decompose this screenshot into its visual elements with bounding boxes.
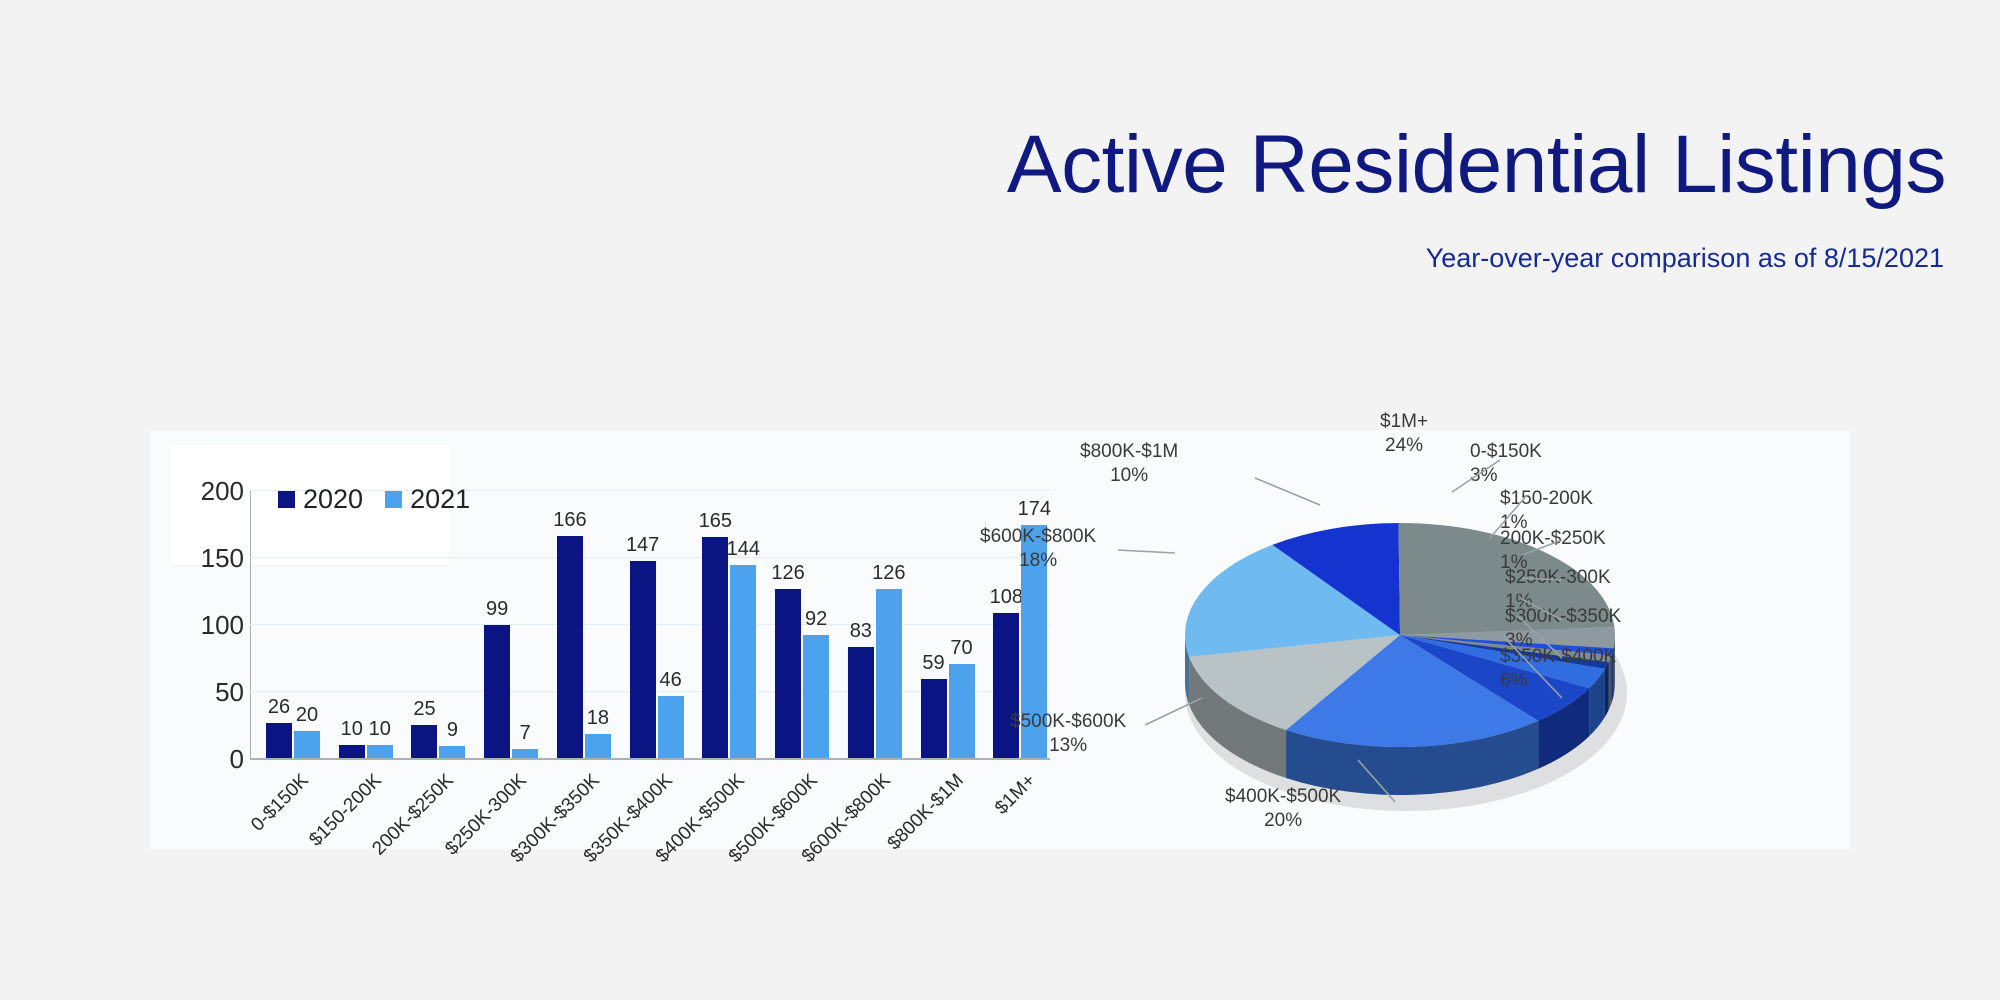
bar-value-label: 10 [360,718,400,741]
bar-chart-y-axis: 200150100500 [172,490,244,760]
bar-value-label: 99 [477,598,517,621]
header: Active Residential Listings Year-over-ye… [0,0,2000,300]
page-subtitle: Year-over-year comparison as of 8/15/202… [1426,243,1944,273]
pie-callout-label: $250K-300K [1505,567,1611,588]
bar-value-label: 70 [942,637,982,660]
bar-value-label: 9 [432,719,472,742]
y-axis-tick-label: 50 [174,677,244,708]
bar-group: 83126 [844,490,917,758]
bar-value-label: 174 [1014,498,1054,521]
x-axis-category-label: $500K-$600K [666,770,823,927]
bar-group: 259 [407,490,480,758]
pie-callout-percent: 24% [1380,434,1428,458]
bar-value-label: 126 [869,562,909,585]
legend-item-2021[interactable]: 2021 [385,486,470,513]
pie-callout-label: $1M+ [1380,411,1428,432]
legend-swatch-2021-icon [385,491,402,508]
x-axis-category-label: $300K-$350K [447,770,604,927]
pie-callout-0-150k: 0-$150K3% [1470,440,1542,488]
x-axis-category-label: 200K-$250K [302,770,459,927]
pie-callout-percent: 13% [1010,734,1126,758]
bar-2021[interactable] [658,696,684,758]
pie-callout-label: $350K-$400K [1500,646,1616,667]
bar-2021[interactable] [803,635,829,758]
pie-callout-800k-1m: $800K-$1M10% [1080,440,1178,488]
bar-group: 14746 [626,490,699,758]
x-axis-category-label: $1M+ [884,770,1041,927]
bar-group: 16618 [553,490,626,758]
x-axis-category-label: $250K-300K [375,770,532,927]
bar-value-label: 144 [723,538,763,561]
bar-value-label: 147 [623,534,663,557]
bar-2020[interactable] [702,537,728,758]
bar-value-label: 25 [404,698,444,721]
bar-group: 2620 [262,490,335,758]
bar-group: 997 [480,490,553,758]
x-axis-category-label: $600K-$800K [738,770,895,927]
x-axis-category-label: $400K-$500K [593,770,750,927]
bar-2020[interactable] [630,561,656,758]
bar-chart-legend: 2020 2021 [278,486,470,513]
pie-callout-label: $150-200K [1500,488,1593,509]
x-axis-line [250,758,1050,760]
bar-2020[interactable] [921,679,947,758]
bar-2020[interactable] [339,745,365,758]
bar-value-label: 165 [695,510,735,533]
pie-callout-label: $500K-$600K [1010,711,1126,732]
pie-callout-percent: 10% [1080,464,1178,488]
legend-label-2021: 2021 [410,486,470,513]
pie-callout-percent: 18% [980,549,1096,573]
bar-2021[interactable] [439,746,465,758]
x-axis-category-label: 0-$150K [157,770,314,927]
pie-callout-label: 200K-$250K [1500,528,1606,549]
pie-callout-percent: 3% [1470,464,1542,488]
pie-callout-label: $600K-$800K [980,526,1096,547]
bar-2021[interactable] [294,731,320,758]
pie-callout-600k-800k: $600K-$800K18% [980,525,1096,573]
bar-2021[interactable] [949,664,975,758]
pie-chart: $800K-$1M10%$600K-$800K18%$500K-$600K13%… [1070,430,1850,850]
bar-2021[interactable] [585,734,611,758]
y-axis-line [250,490,251,760]
pie-callout-percent: 20% [1225,809,1341,833]
legend-label-2020: 2020 [303,486,363,513]
bar-group: 12692 [771,490,844,758]
bar-value-label: 166 [550,509,590,532]
y-axis-tick-label: 100 [174,610,244,641]
bar-value-label: 7 [505,722,545,745]
page-title: Active Residential Listings [1007,124,1946,206]
pie-callout-350k-400k: $350K-$400K6% [1500,645,1616,693]
bar-2020[interactable] [266,723,292,758]
legend-swatch-2020-icon [278,491,295,508]
bar-value-label: 108 [986,586,1026,609]
bar-group: 1010 [335,490,408,758]
bar-value-label: 18 [578,707,618,730]
bar-2020[interactable] [848,647,874,758]
pie-callout-label: $800K-$1M [1080,441,1178,462]
bar-value-label: 46 [651,669,691,692]
pie-callout-label: $400K-$500K [1225,786,1341,807]
bar-2021[interactable] [512,749,538,758]
bar-chart: 200150100500 262010102599971661814746165… [150,430,1070,850]
bar-group: 165144 [698,490,771,758]
bar-2021[interactable] [876,589,902,758]
pie-chart-svg [1070,430,1850,850]
pie-callout-label: 0-$150K [1470,441,1542,462]
y-axis-tick-label: 0 [174,744,244,775]
bar-2021[interactable] [367,745,393,758]
y-axis-tick-label: 150 [174,543,244,574]
y-axis-tick-label: 200 [174,476,244,507]
bar-value-label: 20 [287,704,327,727]
pie-callout-label: $300K-$350K [1505,606,1621,627]
pie-callout-1m-plus: $1M+24% [1380,410,1428,458]
bar-value-label: 126 [768,562,808,585]
pie-callout-500k-600k: $500K-$600K13% [1010,710,1126,758]
bar-2021[interactable] [730,565,756,758]
bar-value-label: 83 [841,620,881,643]
legend-item-2020[interactable]: 2020 [278,486,363,513]
pie-callout-400k-500k: $400K-$500K20% [1225,785,1341,833]
bar-value-label: 92 [796,608,836,631]
pie-callout-percent: 6% [1500,669,1616,693]
bar-group: 5970 [917,490,990,758]
bar-chart-plot-area: 2620101025999716618147461651441269283126… [250,490,1050,760]
